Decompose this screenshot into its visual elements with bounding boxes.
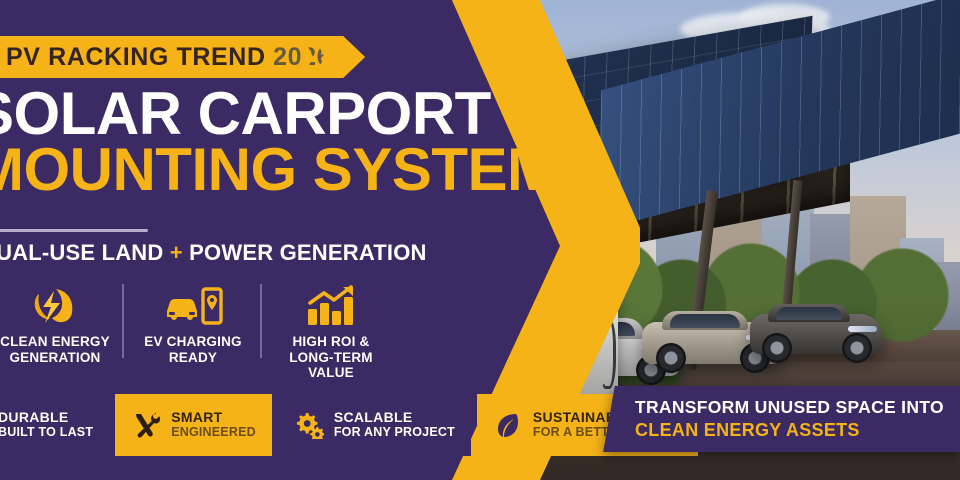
badge-durable: DURABLE BUILT TO LAST <box>0 394 109 456</box>
ribbon-chevrons <box>296 40 353 74</box>
subheadline: DUAL-USE LAND + POWER GENERATION <box>0 240 400 266</box>
page-title: SOLAR CARPORT MOUNTING SYSTEMS <box>0 86 404 199</box>
feature-line-1: HIGH ROI & <box>268 334 394 350</box>
headline-line-2: MOUNTING SYSTEMS <box>0 142 404 198</box>
feature-line-2: READY <box>130 350 256 366</box>
feature-item-high-roi: HIGH ROI & LONG-TERM VALUE <box>262 282 400 381</box>
badge-line-2: FOR ANY PROJECT <box>334 426 455 440</box>
feature-caption: EV CHARGING READY <box>130 334 256 365</box>
badge-text: DURABLE BUILT TO LAST <box>0 410 93 439</box>
feature-line-2: LONG-TERM VALUE <box>268 350 394 381</box>
chevron-right-icon <box>316 40 333 74</box>
feature-item-clean-energy: CLEAN ENERGY GENERATION <box>0 282 124 381</box>
badge-line-2: BUILT TO LAST <box>0 426 93 440</box>
feature-line-1: EV CHARGING <box>130 334 256 350</box>
badge-text: SCALABLE FOR ANY PROJECT <box>334 410 455 439</box>
tools-icon <box>131 410 161 440</box>
badge-line-2: ENGINEERED <box>171 426 256 440</box>
caption-line-2: CLEAN ENERGY ASSETS <box>635 420 944 441</box>
badge-line-1: SCALABLE <box>334 410 455 425</box>
gears-icon <box>294 410 324 440</box>
subheadline-plus: + <box>170 240 183 265</box>
subheadline-after: POWER GENERATION <box>189 240 426 265</box>
chevron-right-icon <box>296 40 313 74</box>
badge-row: DURABLE BUILT TO LAST SMART ENGINEERED <box>0 394 698 456</box>
title-divider <box>0 229 148 232</box>
ev-charging-icon <box>130 282 256 330</box>
leaf-bolt-icon <box>0 282 118 330</box>
subheadline-before: DUAL-USE LAND <box>0 240 163 265</box>
badge-line-1: DURABLE <box>0 410 93 425</box>
feature-caption: CLEAN ENERGY GENERATION <box>0 334 118 365</box>
bar-chart-growth-icon <box>268 282 394 330</box>
badge-smart-engineered: SMART ENGINEERED <box>115 394 272 456</box>
ribbon-label: PV RACKING TREND 2026 <box>6 43 331 72</box>
feature-caption: HIGH ROI & LONG-TERM VALUE <box>268 334 394 381</box>
feature-line-2: GENERATION <box>0 350 118 366</box>
badge-line-1: SMART <box>171 410 256 425</box>
caption-line-1: TRANSFORM UNUSED SPACE INTO <box>635 397 944 418</box>
feature-list: CLEAN ENERGY GENERATION EV CHARGING READ… <box>0 282 400 381</box>
chevron-right-icon <box>336 40 353 74</box>
badge-text: SMART ENGINEERED <box>171 410 256 439</box>
photo-caption: TRANSFORM UNUSED SPACE INTO CLEAN ENERGY… <box>603 386 960 452</box>
feature-item-ev-charging: EV CHARGING READY <box>124 282 262 381</box>
promo-banner: PV RACKING TREND 2026 SOLAR CARPORT MOUN… <box>0 0 960 480</box>
leaf-icon <box>493 410 523 440</box>
feature-line-1: CLEAN ENERGY <box>0 334 118 350</box>
badge-scalable: SCALABLE FOR ANY PROJECT <box>278 394 471 456</box>
